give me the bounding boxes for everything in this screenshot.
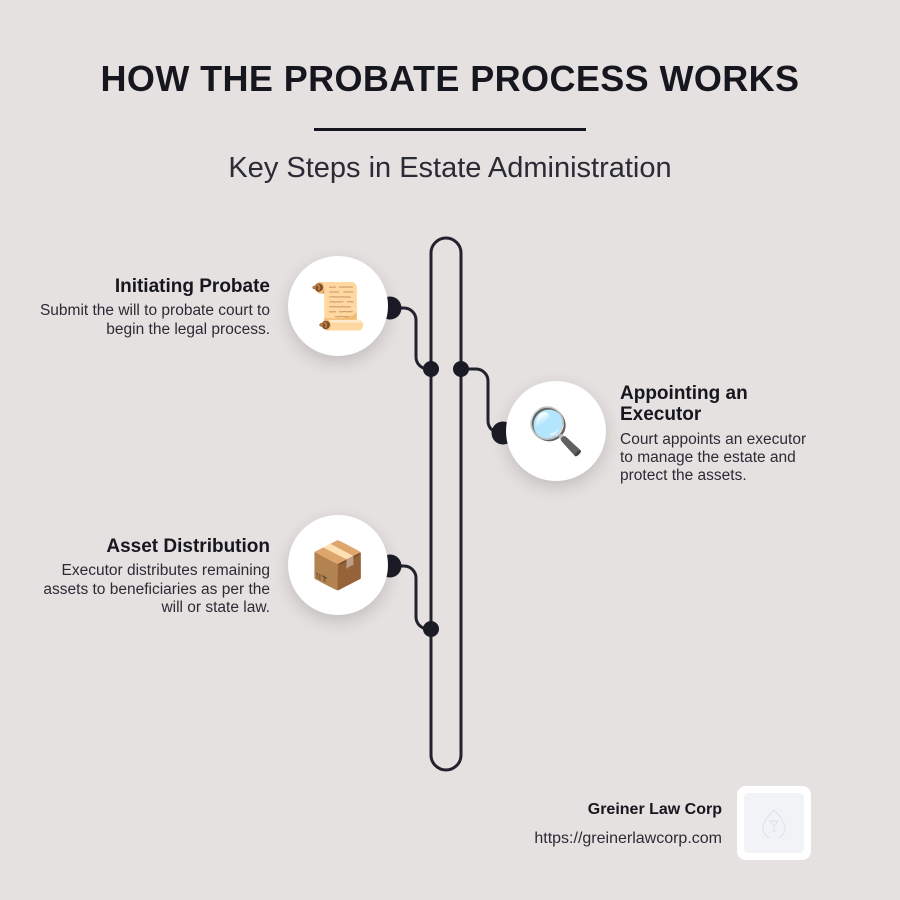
rail-node-left-upper [423, 361, 439, 377]
rail-node-right-upper [453, 361, 469, 377]
footer-url[interactable]: https://greinerlawcorp.com [400, 830, 722, 848]
step-block-1: Initiating Probate Submit the will to pr… [38, 276, 270, 339]
step-block-2: Appointing an Executor Court appoints an… [620, 383, 820, 485]
brand-logo-icon [761, 808, 787, 838]
scroll-icon: 📜 [309, 283, 366, 329]
step-block-3: Asset Distribution Executor distributes … [38, 536, 270, 617]
step-title-3: Asset Distribution [38, 536, 270, 557]
step-description-1: Submit the will to probate court to begi… [38, 302, 270, 339]
infographic-canvas: HOW THE PROBATE PROCESS WORKS Key Steps … [0, 0, 900, 900]
step-description-3: Executor distributes remaining assets to… [38, 562, 270, 617]
footer-logo-card [737, 786, 811, 860]
step-description-2: Court appoints an executor to manage the… [620, 431, 820, 486]
step-icon-bubble-2: 🔍 [506, 381, 606, 481]
step-title-1: Initiating Probate [38, 276, 270, 297]
step-title-2: Appointing an Executor [620, 383, 820, 426]
package-icon: 📦 [309, 542, 366, 588]
footer-brand-name: Greiner Law Corp [460, 801, 722, 819]
step-icon-bubble-1: 📜 [288, 256, 388, 356]
rail-node-left-lower [423, 621, 439, 637]
main-rail [431, 238, 461, 770]
magnifying-glass-icon: 🔍 [527, 408, 584, 454]
step-icon-bubble-3: 📦 [288, 515, 388, 615]
footer-logo-inner [744, 793, 804, 853]
